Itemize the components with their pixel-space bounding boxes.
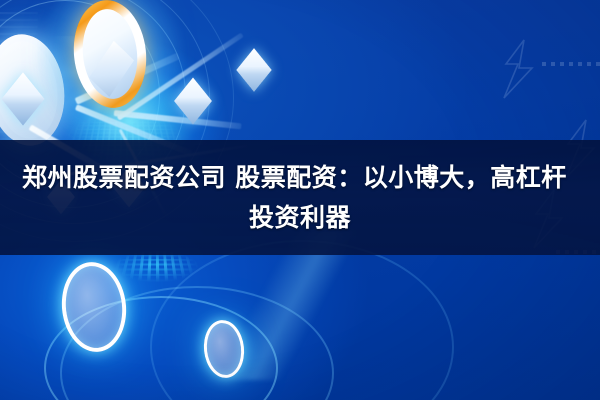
banner-image: 郑州股票配资公司 股票配资：以小博大，高杠杆 投资利器 (0, 0, 600, 400)
banner-title-line-2: 投资利器 (249, 198, 351, 238)
banner-title-line-1: 郑州股票配资公司 股票配资：以小博大，高杠杆 (20, 158, 580, 198)
title-overlay-band: 郑州股票配资公司 股票配资：以小博大，高杠杆 投资利器 (0, 140, 600, 255)
